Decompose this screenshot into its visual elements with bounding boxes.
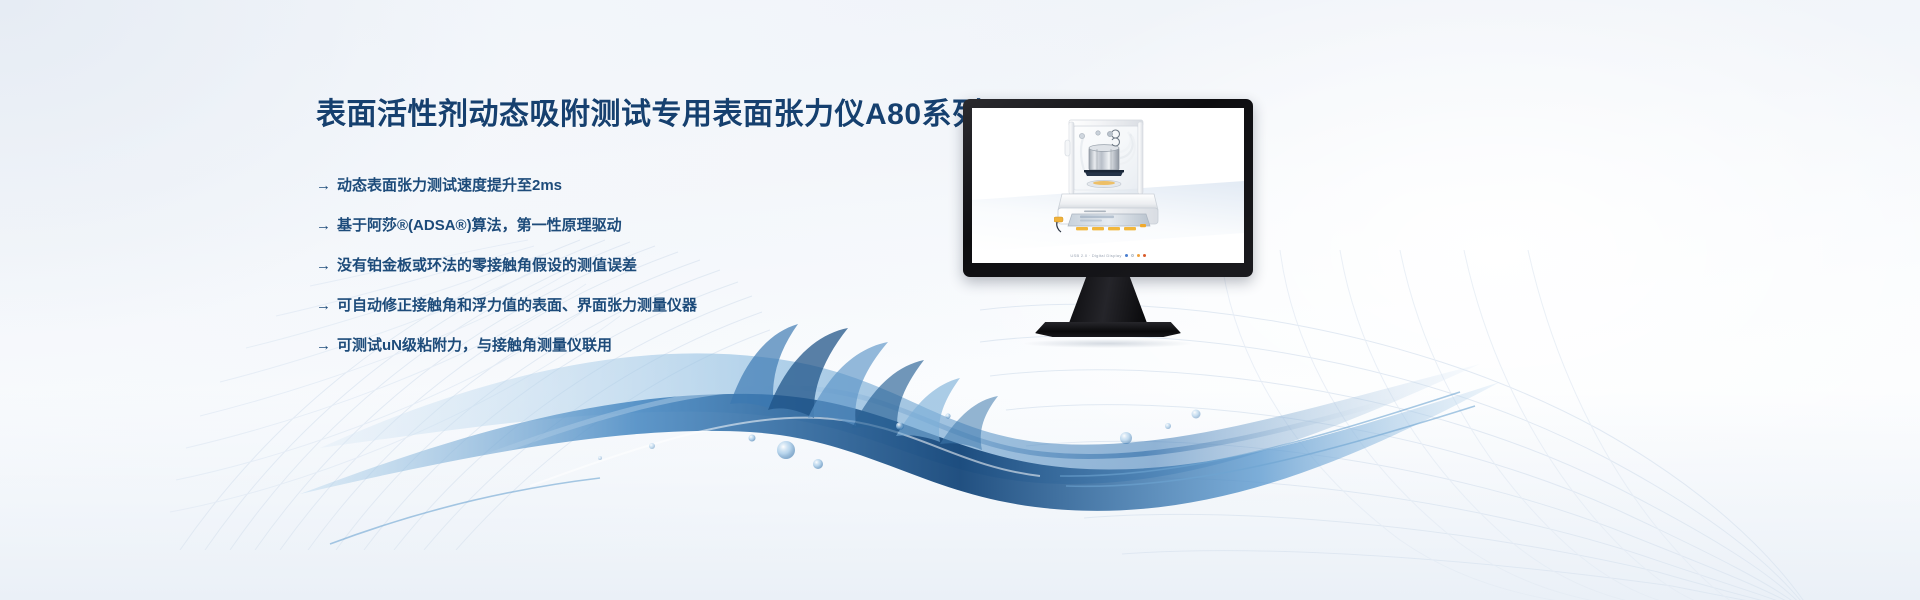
list-item: → 可测试uN级粘附力，与接触角测量仪联用 (316, 335, 956, 356)
monitor-stand-neck (1069, 277, 1147, 323)
bottom-gradient (0, 390, 1920, 600)
indicator-dot-blue (1125, 254, 1128, 257)
monitor-stand-base (1035, 322, 1181, 337)
feature-text: 没有铂金板或环法的零接触角假设的测值误差 (337, 255, 637, 276)
feature-text: 基于阿莎®(ADSA®)算法，第一性原理驱动 (337, 215, 622, 236)
list-item: → 基于阿莎®(ADSA®)算法，第一性原理驱动 (316, 215, 956, 236)
arrow-icon: → (316, 295, 337, 316)
list-item: → 动态表面张力测试速度提升至2ms (316, 175, 956, 196)
arrow-icon: → (316, 215, 337, 236)
indicator-dot-white (1131, 254, 1134, 257)
list-item: → 没有铂金板或环法的零接触角假设的测值误差 (316, 255, 956, 276)
product-monitor: USB 2.0 · Digital Display (963, 99, 1253, 348)
feature-list: → 动态表面张力测试速度提升至2ms → 基于阿莎®(ADSA®)算法，第一性原… (316, 175, 956, 356)
hero-banner: 表面活性剂动态吸附测试专用表面张力仪A80系列 → 动态表面张力测试速度提升至2… (0, 0, 1920, 600)
indicator-dot-orange (1137, 254, 1140, 257)
list-item: → 可自动修正接触角和浮力值的表面、界面张力测量仪器 (316, 295, 956, 316)
arrow-icon: → (316, 175, 337, 196)
monitor-drop-shadow (1024, 339, 1192, 348)
feature-text: 动态表面张力测试速度提升至2ms (337, 175, 562, 196)
monitor-brand-text: USB 2.0 · Digital Display (1070, 253, 1121, 258)
banner-text-block: 表面活性剂动态吸附测试专用表面张力仪A80系列 → 动态表面张力测试速度提升至2… (316, 98, 956, 375)
monitor-bezel: USB 2.0 · Digital Display (963, 99, 1253, 277)
monitor-screen: USB 2.0 · Digital Display (972, 108, 1244, 263)
indicator-dot-red (1143, 254, 1146, 257)
feature-text: 可测试uN级粘附力，与接触角测量仪联用 (337, 335, 612, 356)
page-title: 表面活性剂动态吸附测试专用表面张力仪A80系列 (316, 98, 956, 133)
monitor-brand-strip: USB 2.0 · Digital Display (972, 250, 1244, 261)
arrow-icon: → (316, 255, 337, 276)
arrow-icon: → (316, 335, 337, 356)
tensiometer-instrument-photo (1054, 114, 1162, 250)
feature-text: 可自动修正接触角和浮力值的表面、界面张力测量仪器 (337, 295, 697, 316)
